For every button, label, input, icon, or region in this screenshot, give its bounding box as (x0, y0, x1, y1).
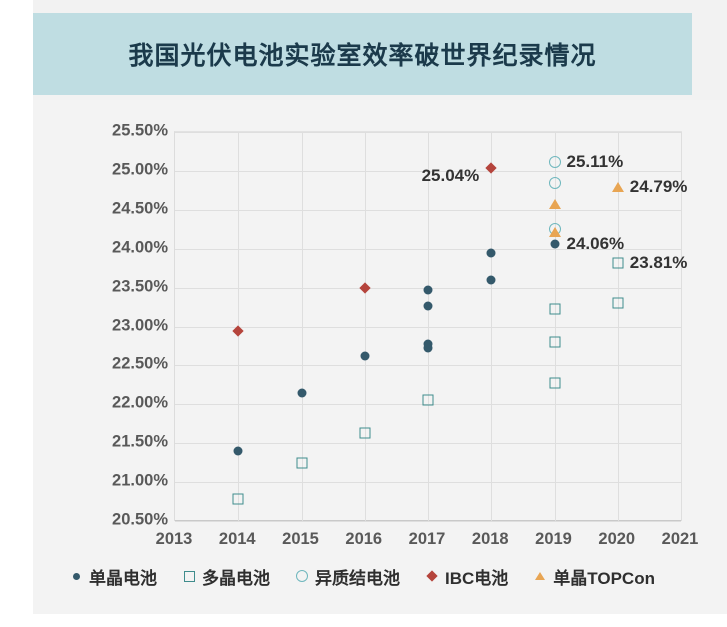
legend-item[interactable]: 单晶电池 (70, 564, 157, 589)
data-label: 23.81% (630, 253, 688, 273)
data-label: 25.11% (567, 152, 624, 172)
gridline-vertical (555, 132, 556, 521)
data-point (424, 285, 433, 294)
chart-legend: 单晶电池多晶电池异质结电池IBC电池单晶TOPCon (33, 560, 692, 592)
data-label: 25.04% (422, 166, 480, 186)
x-axis-tick-label: 2015 (282, 530, 319, 549)
y-axis-labels: 25.50%25.00%24.50%24.00%23.50%23.00%22.5… (63, 131, 168, 520)
legend-item-label: 单晶TOPCon (553, 564, 655, 589)
data-point (423, 395, 434, 406)
x-axis-labels: 201320142015201620172018201920202021 (174, 530, 680, 554)
legend-item-label: 单晶电池 (89, 564, 157, 589)
x-axis-tick-label: 2018 (472, 530, 509, 549)
data-point (234, 446, 243, 455)
data-point (360, 352, 369, 361)
open-square-icon (183, 570, 195, 582)
filled-diamond-icon (426, 570, 438, 582)
y-axis-tick-label: 24.00% (112, 238, 168, 257)
data-point (612, 182, 624, 192)
data-point (612, 258, 623, 269)
data-point (297, 388, 306, 397)
bottom-strip (0, 614, 727, 627)
gridline-horizontal (175, 521, 681, 522)
data-point (233, 494, 244, 505)
data-point (549, 156, 561, 168)
filled-circle-icon (70, 570, 82, 582)
x-axis-tick-label: 2019 (535, 530, 572, 549)
y-axis-tick-label: 25.00% (112, 160, 168, 179)
x-axis-tick-label: 2013 (156, 530, 193, 549)
data-point (549, 378, 560, 389)
x-axis-tick-label: 2021 (662, 530, 699, 549)
title-banner: 我国光伏电池实验室效率破世界纪录情况 (33, 13, 692, 95)
plot-area: 25.04%25.11%24.79%24.06%23.81% (174, 131, 682, 521)
legend-item-label: IBC电池 (445, 564, 508, 589)
legend-item-label: 异质结电池 (315, 564, 400, 589)
x-axis-tick-label: 2014 (219, 530, 256, 549)
legend-item-label: 多晶电池 (202, 564, 270, 589)
legend-item[interactable]: 多晶电池 (183, 564, 270, 589)
y-axis-tick-label: 25.50% (112, 122, 168, 141)
y-axis-tick-label: 21.00% (112, 472, 168, 491)
data-point (612, 298, 623, 309)
data-point (424, 344, 433, 353)
gridline-vertical (491, 132, 492, 521)
data-point (549, 199, 561, 209)
data-point (424, 302, 433, 311)
legend-item[interactable]: 单晶TOPCon (534, 564, 655, 589)
data-label: 24.06% (567, 234, 625, 254)
legend-item[interactable]: 异质结电池 (296, 564, 400, 589)
chart-screenshot: 我国光伏电池实验室效率破世界纪录情况 25.50%25.00%24.50%24.… (0, 0, 727, 627)
y-axis-tick-label: 21.50% (112, 433, 168, 452)
gridline-vertical (428, 132, 429, 521)
data-point (487, 248, 496, 257)
y-axis-tick-label: 22.00% (112, 394, 168, 413)
page-title: 我国光伏电池实验室效率破世界纪录情况 (128, 36, 596, 72)
gridline-vertical (365, 132, 366, 521)
y-axis-tick-label: 23.50% (112, 277, 168, 296)
data-point (549, 227, 561, 237)
open-circle-icon (296, 570, 308, 582)
y-axis-tick-label: 22.50% (112, 355, 168, 374)
legend-item[interactable]: IBC电池 (426, 564, 508, 589)
x-axis-tick-label: 2020 (598, 530, 635, 549)
x-axis-tick-label: 2016 (345, 530, 382, 549)
chart-body: 25.50%25.00%24.50%24.00%23.50%23.00%22.5… (33, 100, 727, 614)
data-point (549, 303, 560, 314)
filled-triangle-icon (534, 570, 546, 582)
data-point (487, 275, 496, 284)
data-point (550, 240, 559, 249)
data-point (359, 428, 370, 439)
data-point (296, 457, 307, 468)
data-point (549, 337, 560, 348)
data-label: 24.79% (630, 177, 688, 197)
x-axis-tick-label: 2017 (409, 530, 446, 549)
data-point (549, 177, 561, 189)
y-axis-tick-label: 24.50% (112, 199, 168, 218)
y-axis-tick-label: 20.50% (112, 511, 168, 530)
y-axis-tick-label: 23.00% (112, 316, 168, 335)
